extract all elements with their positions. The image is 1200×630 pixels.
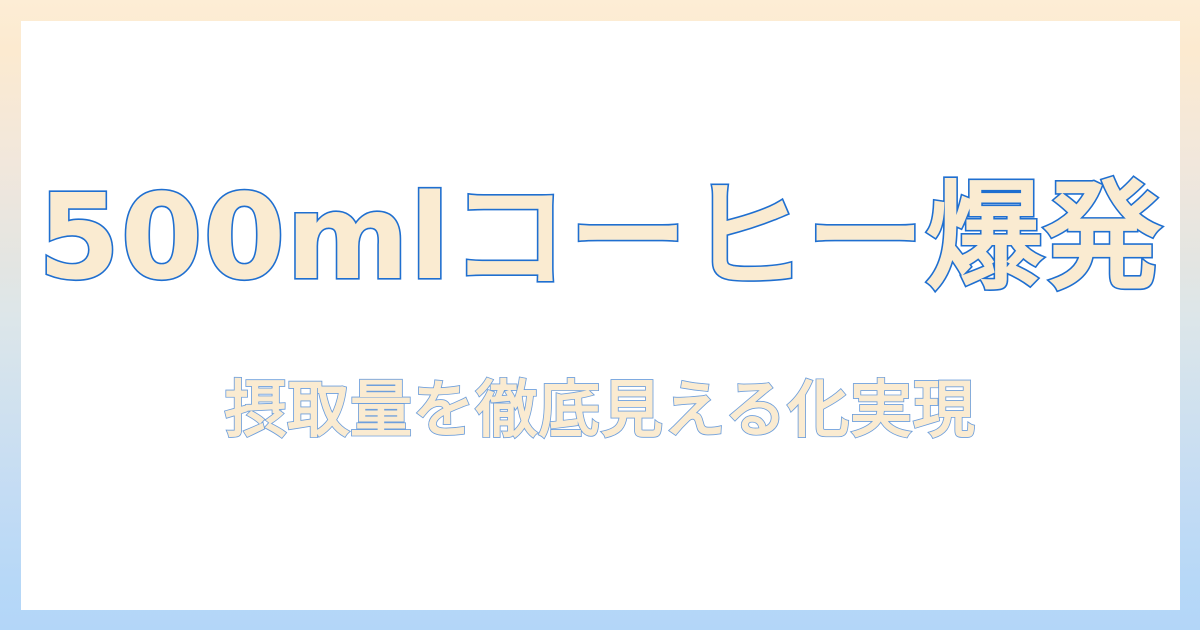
content-card bbox=[21, 21, 1180, 610]
banner-canvas: 500mlコーヒー爆発 摂取量を徹底見える化実現 bbox=[0, 0, 1200, 630]
